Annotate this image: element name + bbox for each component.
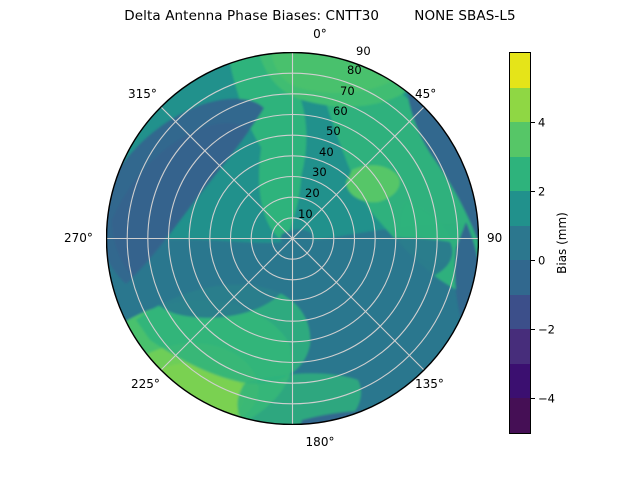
colorbar-segment-3 (510, 157, 530, 192)
colorbar-axis-label: Bias (mm) (551, 52, 573, 434)
colorbar-segment-6 (510, 260, 530, 295)
colorbar-segment-10 (510, 398, 530, 433)
colorbar-segment-0 (510, 53, 530, 88)
r-tick-90: 90 (356, 46, 371, 58)
colorbar-segment-2 (510, 122, 530, 157)
theta-tick-90: 90 (487, 232, 502, 244)
r-tick-30: 30 (312, 167, 327, 179)
theta-tick-0: 0° (0, 28, 640, 40)
polar-axes (106, 52, 479, 425)
colorbar-segment-1 (510, 88, 530, 123)
r-tick-20: 20 (305, 188, 320, 200)
colorbar-segment-8 (510, 329, 530, 364)
tick-mark-minus-2 (531, 329, 535, 330)
r-tick-40: 40 (319, 147, 334, 159)
r-tick-50: 50 (326, 126, 341, 138)
tick-mark-0 (531, 260, 535, 261)
colorbar-segment-4 (510, 191, 530, 226)
page-title: Delta Antenna Phase Biases: CNTT30 NONE … (0, 8, 640, 24)
colorbar-segment-9 (510, 364, 530, 399)
colorbar-segment-5 (510, 226, 530, 261)
polar-grid (107, 53, 479, 425)
tick-mark-2 (531, 191, 535, 192)
r-tick-10: 10 (298, 209, 313, 221)
r-tick-70: 70 (340, 86, 355, 98)
colorbar (509, 52, 531, 434)
theta-tick-270: 270° (64, 232, 93, 244)
theta-tick-45: 45° (415, 88, 436, 100)
theta-tick-315: 315° (128, 88, 157, 100)
colorbar-segment-7 (510, 295, 530, 330)
r-tick-60: 60 (333, 106, 348, 118)
theta-tick-180: 180° (0, 436, 640, 448)
polar-plot: 10 20 30 40 50 60 70 80 90 (106, 52, 479, 425)
theta-tick-135: 135° (415, 378, 444, 390)
r-tick-80: 80 (347, 65, 362, 77)
tick-mark-minus-4 (531, 398, 535, 399)
theta-tick-225: 225° (131, 378, 160, 390)
tick-mark-4 (531, 122, 535, 123)
